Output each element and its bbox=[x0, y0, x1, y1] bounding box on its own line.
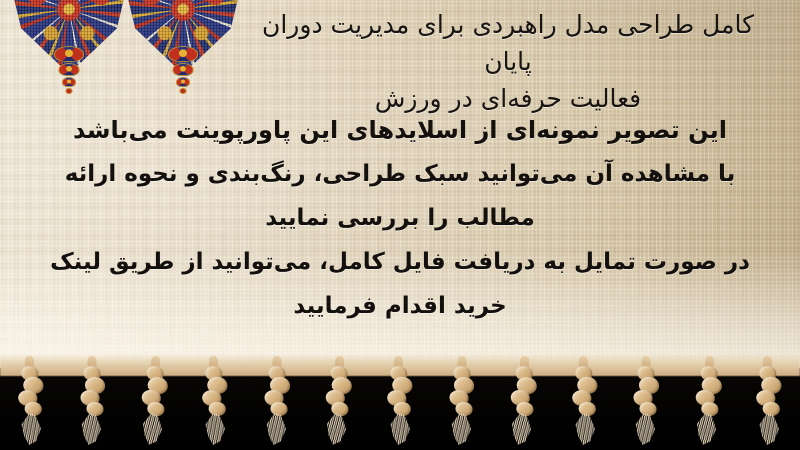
fringe-brush bbox=[629, 412, 659, 447]
pendant-bead bbox=[173, 63, 194, 76]
fringe-tassel bbox=[560, 363, 609, 445]
fringe-tassel bbox=[375, 363, 424, 445]
fringe-knot bbox=[86, 402, 103, 416]
fringe-tassel bbox=[439, 364, 485, 444]
fringe-brush bbox=[136, 411, 167, 447]
carpet-ornament-group bbox=[0, 0, 235, 105]
medallion-pendant-icon bbox=[163, 46, 203, 106]
fringe-tassel bbox=[191, 363, 240, 445]
slide-title: کامل طراحی مدل راهبردی برای مدیریت دوران… bbox=[240, 6, 776, 117]
pendant-bead bbox=[176, 77, 190, 87]
carpet-fringe-row bbox=[0, 364, 800, 450]
slide-body-line-2: با مشاهده آن می‌توانید سبک طراحی، رنگ‌بن… bbox=[40, 152, 760, 240]
slide-body: این تصویر نمونه‌ای از اسلایدهای این پاور… bbox=[40, 108, 760, 328]
fringe-brush bbox=[16, 412, 45, 446]
pendant-bead bbox=[62, 77, 76, 87]
fringe-brush bbox=[200, 412, 229, 446]
pendant-tip bbox=[66, 88, 73, 94]
fringe-brush bbox=[385, 412, 414, 446]
fringe-knot bbox=[516, 402, 534, 417]
slide-body-line-3: در صورت تمایل به دریافت فایل کامل، می‌تو… bbox=[40, 240, 760, 328]
fringe-brush bbox=[689, 411, 720, 447]
fringe-brush bbox=[754, 412, 783, 446]
fringe-tassel bbox=[623, 364, 669, 444]
fringe-tassel bbox=[69, 364, 115, 444]
fringe-tassel bbox=[745, 363, 794, 445]
pendant-bead bbox=[54, 46, 84, 62]
fringe-brush bbox=[320, 411, 351, 447]
fringe-brush bbox=[569, 412, 598, 446]
fringe-tassel bbox=[683, 363, 732, 445]
fringe-knot bbox=[640, 402, 657, 416]
fringe-tassel bbox=[6, 363, 55, 445]
fringe-knot bbox=[209, 402, 227, 417]
medallion-pendant-icon bbox=[49, 46, 89, 106]
fringe-brush bbox=[505, 411, 536, 447]
fringe-knot bbox=[147, 402, 165, 417]
slide-title-line-1: کامل طراحی مدل راهبردی برای مدیریت دوران… bbox=[240, 6, 776, 80]
fringe-knot bbox=[455, 402, 472, 416]
fringe-tassel bbox=[499, 363, 548, 445]
fringe-brush bbox=[445, 412, 475, 447]
fringe-knot bbox=[701, 402, 719, 417]
pendant-bead bbox=[168, 46, 198, 62]
pendant-bead bbox=[59, 63, 80, 76]
fringe-knot bbox=[763, 402, 781, 417]
fringe-brush bbox=[260, 412, 290, 447]
pendant-tip bbox=[180, 88, 187, 94]
fringe-knot bbox=[394, 402, 412, 417]
fringe-knot bbox=[271, 402, 288, 416]
fringe-tassel bbox=[129, 363, 178, 445]
fringe-tassel bbox=[314, 363, 363, 445]
fringe-knot bbox=[578, 402, 596, 417]
fringe-tassel bbox=[254, 364, 300, 444]
slide-body-line-1: این تصویر نمونه‌ای از اسلایدهای این پاور… bbox=[40, 108, 760, 152]
fringe-brush bbox=[76, 412, 106, 447]
fringe-knot bbox=[24, 402, 42, 417]
slide-canvas: کامل طراحی مدل راهبردی برای مدیریت دوران… bbox=[0, 0, 800, 450]
